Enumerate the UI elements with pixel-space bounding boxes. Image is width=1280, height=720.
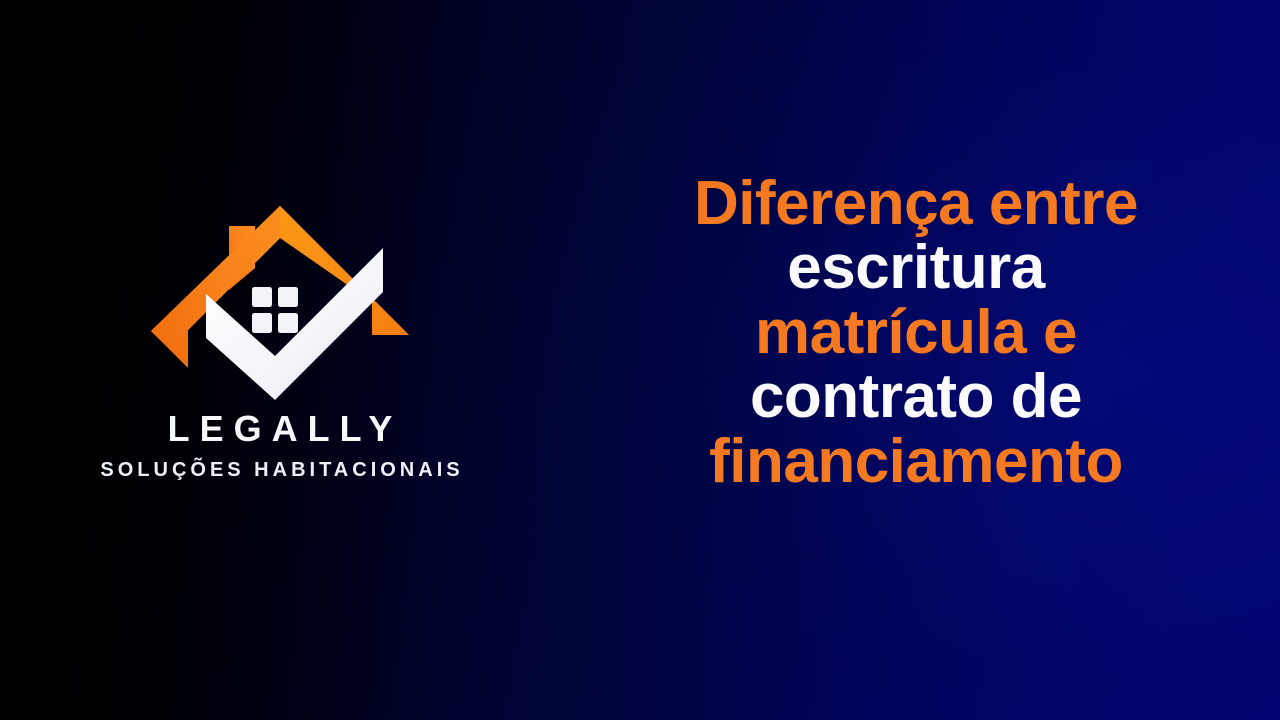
headline-line-1: Diferença entre — [628, 172, 1204, 236]
brand-block: LEGALLY SOLUÇÕES HABITACIONAIS — [40, 190, 520, 520]
headline-line-5: financiamento — [628, 430, 1204, 494]
brand-tagline: SOLUÇÕES HABITACIONAIS — [96, 460, 463, 480]
headline: Diferença entre escritura matrícula e co… — [628, 172, 1204, 494]
house-roof-checkmark-logo — [145, 190, 415, 405]
headline-line-4: contrato de — [628, 365, 1204, 429]
headline-line-3: matrícula e — [628, 301, 1204, 365]
window-grid-icon — [252, 287, 298, 333]
brand-name: LEGALLY — [158, 411, 403, 447]
slide-canvas: LEGALLY SOLUÇÕES HABITACIONAIS Diferença… — [0, 0, 1280, 720]
headline-line-2: escritura — [628, 236, 1204, 300]
